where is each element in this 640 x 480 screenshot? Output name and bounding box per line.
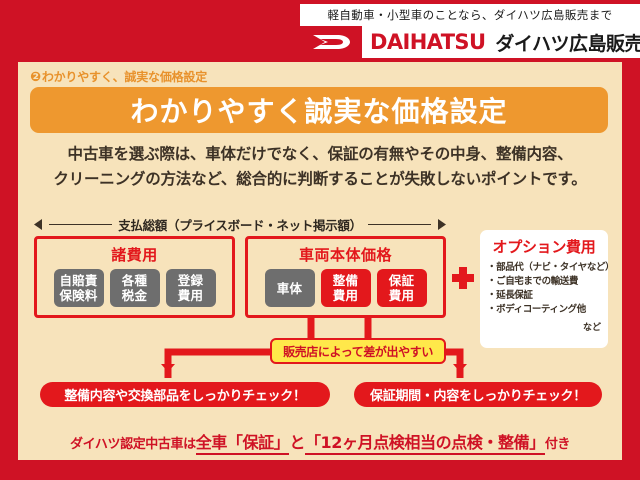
chip-line-1: 保証 [389, 273, 414, 288]
dealer-logo-block: 軽自動車・小型車のことなら、ダイハツ広島販売まで DAIHATSU ダイハツ広島… [300, 4, 640, 58]
options-item: ・ご自宅までの輸送費 [487, 275, 601, 289]
footer-lead: ダイハツ認定中古車は [70, 437, 196, 452]
page-header: 軽自動車・小型車のことなら、ダイハツ広島販売まで DAIHATSU ダイハツ広島… [0, 0, 640, 62]
price-breakdown-boxes: 諸費用 自賠責 保険料 各種 税金 登録 費用 [34, 236, 446, 318]
section-eyebrow-label: わかりやすく、誠実な価格設定 [42, 70, 207, 84]
section-title-banner: わかりやすく誠実な価格設定 [30, 87, 608, 133]
section-eyebrow: ❷わかりやすく、誠実な価格設定 [30, 68, 207, 85]
fees-chip-group: 自賠責 保険料 各種 税金 登録 費用 [54, 269, 216, 307]
footer-conjunction: と [289, 433, 305, 452]
footer-text: ダイハツ認定中古車は全車「保証」と「12ヶ月点検相当の点検・整備」付き [70, 429, 570, 453]
content-card: ❷わかりやすく、誠実な価格設定 わかりやすく誠実な価格設定 中古車を選ぶ際は、車… [18, 62, 622, 422]
chip-line-1: 整備 [333, 273, 358, 288]
header-tagline: 軽自動車・小型車のことなら、ダイハツ広島販売まで [300, 4, 640, 26]
lede-paragraph: 中古車を選ぶ際は、車体だけでなく、保証の有無やその中身、整備内容、 クリーニング… [18, 142, 622, 192]
chip-line-2: 税金 [122, 288, 147, 303]
arrow-left-icon [34, 219, 43, 230]
options-item: ・延長保証 [487, 289, 601, 303]
chip-jibaiseki: 自賠責 保険料 [54, 269, 104, 307]
dealer-difference-callout: 販売店によって差が出やすい [270, 338, 446, 364]
brand-latin-text: DAIHATSU [370, 30, 485, 54]
footer-emphasis-1: 全車「保証」 [196, 433, 290, 455]
pill-text: 保証期間・内容をしっかりチェック！ [370, 385, 586, 404]
vehicle-price-box-title: 車両本体価格 [299, 244, 392, 265]
chip-line-2: 費用 [389, 288, 414, 303]
brand-jp-text: ダイハツ広島販売 [495, 29, 640, 56]
callout-text: 販売店によって差が出やすい [283, 343, 433, 360]
lede-line-1: 中古車を選ぶ際は、車体だけでなく、保証の有無やその中身、整備内容、 [18, 142, 622, 167]
brand-logo-row: DAIHATSU ダイハツ広島販売 [300, 26, 640, 58]
options-panel: オプション費用 ・部品代（ナビ・タイヤなど） ・ご自宅までの輸送費 ・延長保証 … [480, 230, 608, 348]
options-item: ・部品代（ナビ・タイヤなど） [487, 261, 601, 275]
chip-shatai: 車体 [265, 269, 315, 307]
chip-line-2: 費用 [178, 288, 203, 303]
section-number: ❷ [30, 70, 41, 85]
section-title: わかりやすく誠実な価格設定 [130, 90, 507, 130]
options-item: ・ボディコーティング他 [487, 303, 601, 317]
fees-box-title: 諸費用 [111, 244, 158, 265]
total-price-label: 支払総額（プライスボード・ネット掲示額） [118, 215, 362, 234]
arrow-line-right [368, 224, 431, 225]
chip-touroku: 登録 費用 [166, 269, 216, 307]
options-note: など [487, 320, 601, 333]
daihatsu-d-mark-icon [300, 26, 362, 58]
fees-box: 諸費用 自賠責 保険料 各種 税金 登録 費用 [34, 236, 235, 318]
chip-line-2: 保険料 [59, 288, 97, 303]
advertisement-page: 軽自動車・小型車のことなら、ダイハツ広島販売まで DAIHATSU ダイハツ広島… [0, 0, 640, 480]
plus-icon [452, 267, 474, 289]
footer-emphasis-2: 「12ヶ月点検相当の点検・整備」 [305, 433, 545, 455]
pill-text: 整備内容や交換部品をしっかりチェック！ [64, 385, 305, 404]
daihatsu-d-mark-svg [311, 32, 351, 52]
chip-zeikin: 各種 税金 [110, 269, 160, 307]
chip-line-2: 費用 [333, 288, 358, 303]
total-price-arrow-row: 支払総額（プライスボード・ネット掲示額） [34, 214, 446, 234]
chip-hoshou-hiyou: 保証 費用 [377, 269, 427, 307]
check-maintenance-pill: 整備内容や交換部品をしっかりチェック！ [40, 382, 330, 407]
vehicle-chip-group: 車体 整備 費用 保証 費用 [265, 269, 427, 307]
chip-line-1: 登録 [178, 273, 203, 288]
chip-seibi-hiyou: 整備 費用 [321, 269, 371, 307]
chip-line-1: 各種 [122, 273, 147, 288]
lede-line-2: クリーニングの方法など、総合的に判断することが失敗しないポイントです。 [18, 167, 622, 192]
options-list: ・部品代（ナビ・タイヤなど） ・ご自宅までの輸送費 ・延長保証 ・ボディコーティ… [487, 261, 601, 317]
arrow-line-left [49, 224, 112, 225]
chip-line-1: 自賠責 [59, 273, 97, 288]
chip-line-1: 車体 [277, 281, 302, 296]
check-warranty-pill: 保証期間・内容をしっかりチェック！ [354, 382, 602, 407]
page-footer: ダイハツ認定中古車は全車「保証」と「12ヶ月点検相当の点検・整備」付き [18, 422, 622, 460]
options-title: オプション費用 [487, 236, 601, 257]
arrow-right-icon [437, 219, 446, 230]
vehicle-price-box: 車両本体価格 車体 整備 費用 保証 費用 [245, 236, 446, 318]
footer-tail: 付き [545, 437, 570, 452]
